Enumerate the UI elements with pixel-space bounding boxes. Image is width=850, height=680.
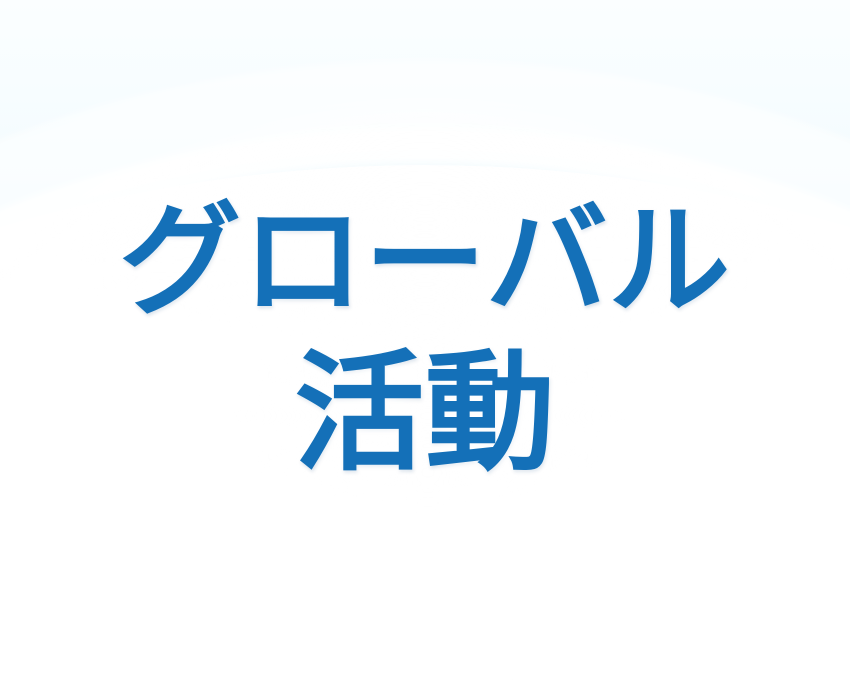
world-globe	[0, 0, 850, 680]
global-activity-banner: グローバル 活動	[0, 0, 850, 680]
globe-limb-glow	[0, 165, 850, 680]
